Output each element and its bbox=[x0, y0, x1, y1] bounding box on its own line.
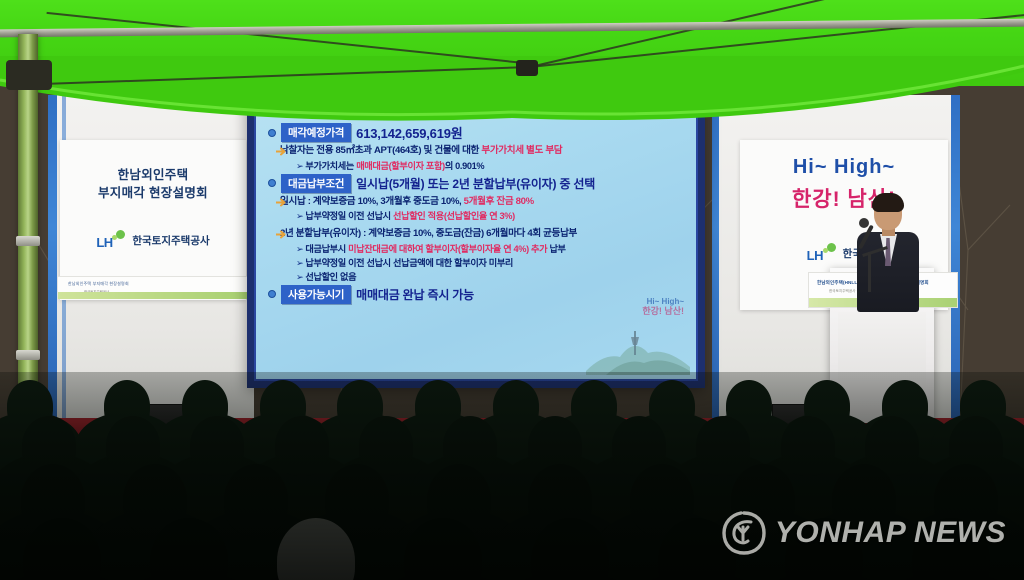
slide-section: 사용가능시기매매대금 완납 즉시 가능 bbox=[268, 285, 686, 304]
section-header: 사용가능시기매매대금 완납 즉시 가능 bbox=[268, 285, 686, 304]
section-value: 일시납(5개월) 또는 2년 분할납부(유이자) 중 선택 bbox=[356, 175, 595, 192]
tent-pole-bracket bbox=[6, 60, 52, 90]
body-text: 선납할인 없음 bbox=[305, 272, 356, 282]
body-text: 납부 bbox=[547, 244, 565, 254]
tent-pole-clamp bbox=[16, 236, 40, 246]
body-text: 대금납부시 bbox=[305, 244, 348, 254]
slide-section: 매각예정가격613,142,659,619원낙찰자는 전용 85㎡초과 APT(… bbox=[268, 123, 686, 172]
sub-bullet-line: ➢대금납부시 미납잔대금에 대하여 할부이자(할부이자율 연 4%) 추가 납부 bbox=[296, 241, 686, 255]
highlight-text: 매매대금(할부이자 포함) bbox=[356, 161, 445, 171]
slide-sections: 매각예정가격613,142,659,619원낙찰자는 전용 85㎡초과 APT(… bbox=[268, 123, 686, 304]
arrow-bullet-line: 2년 분할납부(유이자) : 계약보증금 10%, 중도금(잔금) 6개월마다 … bbox=[276, 227, 686, 241]
lh-mark-icon: LH bbox=[96, 230, 126, 250]
body-text: 부가가치세는 bbox=[305, 161, 356, 171]
yonhap-swirl-icon bbox=[721, 510, 767, 556]
slide-section: 대금납부조건일시납(5개월) 또는 2년 분할납부(유이자) 중 선택일시납 :… bbox=[268, 174, 686, 283]
arrow-bullet-line: 일시납 : 계약보증금 10%, 3개월후 중도금 10%, 5개월후 잔금 8… bbox=[276, 195, 686, 209]
lh-mark-icon: LH bbox=[807, 243, 837, 263]
yonhap-watermark: YONHAP NEWS bbox=[721, 510, 1006, 556]
body-text: 납부약정일 이전 선납시 선납금액에 대한 할부이자 미부리 bbox=[305, 258, 513, 268]
slide-watermark: Hi~ High~ 한강! 남산! bbox=[586, 297, 690, 375]
yonhap-watermark-text: YONHAP NEWS bbox=[775, 516, 1006, 550]
section-header: 대금납부조건일시납(5개월) 또는 2년 분할납부(유이자) 중 선택 bbox=[268, 174, 686, 193]
sub-bullet-icon: ➢ bbox=[296, 272, 303, 282]
body-text: 낙찰자는 전용 85㎡초과 APT(464호) 및 건물에 대한 bbox=[280, 145, 481, 156]
audience-member-head bbox=[696, 416, 750, 476]
lh-logo-left: LH 한국토지주택공사 bbox=[60, 230, 246, 250]
audience-member-head bbox=[275, 416, 329, 476]
sub-bullet-icon: ➢ bbox=[296, 258, 303, 268]
body-text: 2년 분할납부(유이자) : 계약보증금 10%, 중도금(잔금) 6개월마다 … bbox=[280, 228, 577, 239]
highlight-text: 부가가치세 별도 부담 bbox=[481, 145, 562, 156]
sub-bullet-icon: ➢ bbox=[296, 211, 303, 221]
section-tag: 대금납부조건 bbox=[281, 174, 351, 193]
mini-banner-wave bbox=[58, 292, 248, 299]
body-text: 일시납 : 계약보증금 10%, 3개월후 중도금 10%, bbox=[280, 196, 464, 207]
mini-banner: 한남외인주택 부지매각 현장설명회 한국토지주택공사 bbox=[58, 276, 248, 299]
sub-bullet-icon: ➢ bbox=[296, 161, 303, 171]
audience-member-head bbox=[224, 464, 288, 536]
section-bullet-icon bbox=[268, 129, 276, 137]
arrow-bullet-line: 낙찰자는 전용 85㎡초과 APT(464호) 및 건물에 대한 부가가치세 별… bbox=[276, 144, 686, 158]
photo-scene: 한남외인주택 부지매각 현장설명회 LH 한국토지주택공사 한남외인주택 부지매… bbox=[0, 0, 1024, 580]
sub-bullet-line: ➢납부약정일 이전 선납시 선납금액에 대한 할부이자 미부리 bbox=[296, 255, 686, 269]
body-text: 납부약정일 이전 선납시 bbox=[305, 211, 393, 221]
section-value: 매매대금 완납 즉시 가능 bbox=[356, 286, 474, 303]
audience-member-head bbox=[190, 416, 244, 476]
highlight-text: 선납할인 적용(선납할인율 연 3%) bbox=[393, 211, 515, 221]
sub-bullet-line: ➢부가가치세는 매매대금(할부이자 포함)의 0.901% bbox=[296, 158, 686, 172]
body-text: 의 0.901% bbox=[445, 161, 484, 171]
audience-member-head bbox=[493, 380, 539, 432]
tent-hub-joint bbox=[516, 60, 538, 76]
left-banner-title: 한남외인주택 부지매각 현장설명회 bbox=[60, 140, 246, 202]
section-bullet-icon bbox=[268, 179, 276, 187]
sub-bullet-line: ➢선납할인 없음 bbox=[296, 269, 686, 283]
microphone-icon bbox=[859, 218, 869, 228]
highlight-text: 5개월후 잔금 80% bbox=[464, 196, 534, 207]
audience-member-head bbox=[781, 416, 835, 476]
presentation-slide: LH Hi~ High~ 한강! 남산! Ⅳ. 매각예정가격, 대금납부조건 및… bbox=[254, 85, 698, 381]
section-tag: 사용가능시기 bbox=[281, 285, 351, 304]
sub-bullet-icon: ➢ bbox=[296, 244, 303, 254]
mic-stand bbox=[868, 252, 871, 292]
highlight-text: 미납잔대금에 대하여 할부이자(할부이자율 연 4%) 추가 bbox=[348, 244, 547, 254]
audience-member-head bbox=[571, 380, 617, 432]
sub-bullet-line: ➢납부약정일 이전 선납시 선납할인 적용(선납할인율 연 3%) bbox=[296, 208, 686, 222]
section-bullet-icon bbox=[268, 290, 276, 298]
tent-pole-clamp bbox=[16, 350, 40, 360]
